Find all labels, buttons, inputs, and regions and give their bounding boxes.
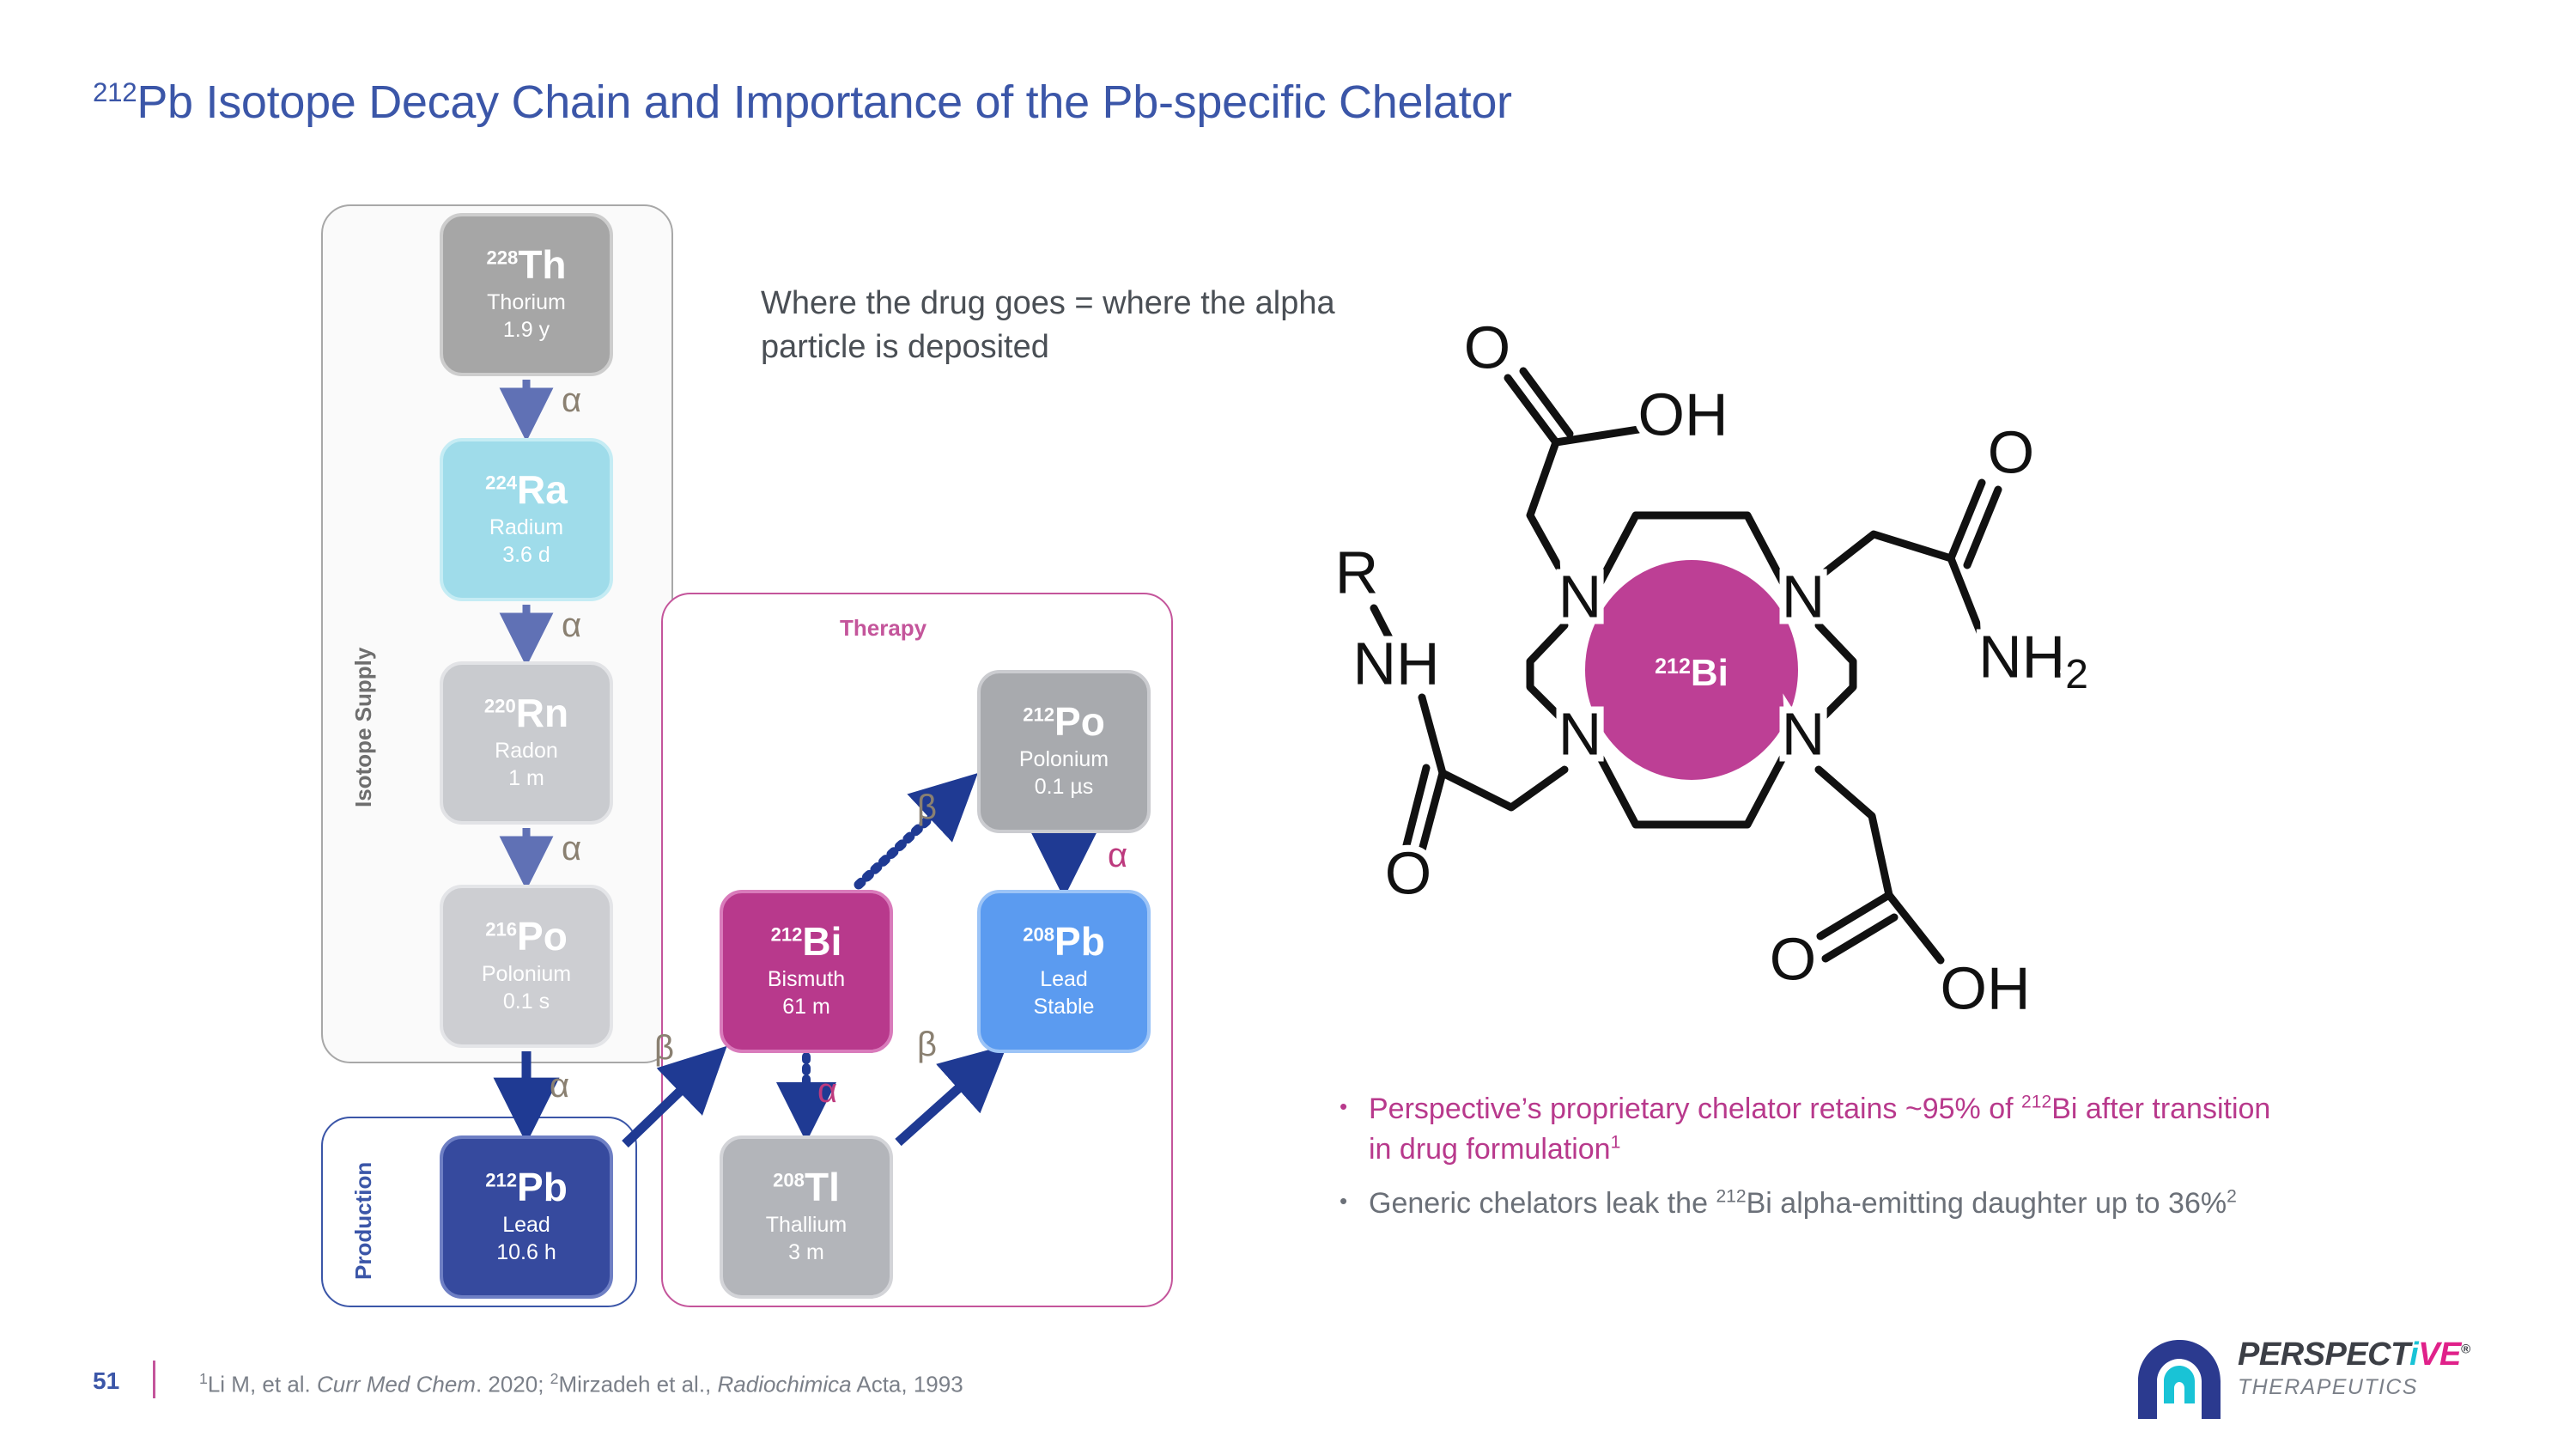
bullet-superscript: 212: [2021, 1093, 2051, 1112]
citation-journal-2: Radiochimica: [718, 1372, 852, 1397]
company-logo: PERSPECTiVE® THERAPEUTICS: [2135, 1333, 2538, 1428]
citation-segment: . 2020;: [476, 1372, 550, 1397]
isotope-name: Radon: [495, 737, 558, 765]
isotope-symbol: 208Tl: [773, 1167, 840, 1208]
isotope-halflife: 3.6 d: [502, 541, 550, 569]
logo-subtitle: THERAPEUTICS: [2238, 1377, 2470, 1398]
isotope-name: Polonium: [482, 960, 571, 989]
citation-ref-2: 2: [550, 1370, 559, 1387]
bullet-citation-ref: 1: [1611, 1133, 1621, 1153]
isotope-name: Bismuth: [768, 965, 845, 994]
isotope-symbol: 224Ra: [485, 470, 568, 510]
isotope-name: Thallium: [766, 1211, 847, 1239]
isotope-symbol: 216Po: [485, 916, 568, 957]
isotope-symbol: 212Pb: [485, 1167, 568, 1208]
isotope-box-po216[interactable]: 216Po Polonium 0.1 s: [440, 885, 613, 1048]
isotope-mass: 228: [486, 247, 518, 269]
isotope-symbol: 212Bi: [771, 922, 842, 962]
citation-segment: Mirzadeh et al.,: [559, 1372, 718, 1397]
isotope-element: Pb: [1054, 919, 1105, 964]
decay-label-beta-pb-bi: β: [654, 1031, 674, 1065]
isotope-box-tl208[interactable]: 208Tl Thallium 3 m: [720, 1135, 893, 1299]
isotope-halflife: 1.9 y: [503, 316, 550, 344]
isotope-mass: 208: [773, 1170, 805, 1191]
isotope-mass: 216: [485, 919, 517, 941]
isotope-element: Pb: [517, 1165, 568, 1209]
decay-label-beta-tl-pb: β: [917, 1027, 937, 1062]
chelator-structure-diagram: 212Bi N N N N O OH O NH2 R NH O O OH: [1340, 258, 2164, 1048]
decay-label-alpha-ra-rn: α: [562, 608, 581, 642]
atom-label-o-upper-right: O: [1988, 418, 2034, 485]
page-title: 212Pb Isotope Decay Chain and Importance…: [93, 76, 1512, 129]
atom-label-oh-upper: OH: [1638, 381, 1728, 447]
citation-segment: Li M, et al.: [208, 1372, 317, 1397]
logo-name-accent-i: i: [2409, 1336, 2418, 1373]
atom-label-n-lower-right: N: [1782, 700, 1826, 767]
bullet-superscript: 212: [1716, 1186, 1746, 1206]
isotope-element: Tl: [805, 1165, 840, 1209]
isotope-mass: 212: [771, 924, 803, 946]
isotope-halflife: 0.1 µs: [1035, 773, 1094, 801]
list-item: • Perspective’s proprietary chelator ret…: [1340, 1089, 2301, 1170]
isotope-mass: 212: [1023, 704, 1054, 726]
bullet-citation-ref: 2: [2227, 1186, 2237, 1206]
atom-label-nh-lower-left: NH: [1352, 630, 1439, 697]
isotope-element: Bi: [802, 919, 841, 964]
citation-journal-1: Curr Med Chem: [317, 1372, 476, 1397]
bullet-marker-icon: •: [1340, 1184, 1369, 1224]
isotope-halflife: 0.1 s: [503, 988, 550, 1016]
isotope-symbol: 212Po: [1023, 702, 1105, 742]
registered-trademark-icon: ®: [2461, 1342, 2470, 1356]
atom-label-n-upper-right: N: [1782, 563, 1826, 630]
citation-footnote: 1Li M, et al. Curr Med Chem. 2020; 2Mirz…: [199, 1370, 963, 1398]
isotope-box-ra224[interactable]: 224Ra Radium 3.6 d: [440, 438, 613, 601]
isotope-box-bi212[interactable]: 212Bi Bismuth 61 m: [720, 890, 893, 1053]
isotope-halflife: Stable: [1034, 993, 1095, 1021]
isotope-mass: 224: [485, 472, 517, 494]
isotope-name: Polonium: [1019, 746, 1109, 774]
bullet-text-2: Generic chelators leak the 212Bi alpha-e…: [1369, 1184, 2237, 1224]
logo-wordmark: PERSPECTiVE® THERAPEUTICS: [2238, 1338, 2470, 1398]
isotope-box-th228[interactable]: 228Th Thorium 1.9 y: [440, 213, 613, 376]
atom-label-nh2-upper-right: NH2: [1978, 623, 2088, 697]
isotope-symbol: 208Pb: [1023, 922, 1105, 962]
decay-label-alpha-po-pb208: α: [1108, 838, 1127, 873]
logo-name-part1: PERSPECT: [2238, 1336, 2409, 1373]
atom-label-o-lower-right: O: [1770, 925, 1816, 992]
isotope-box-pb212[interactable]: 212Pb Lead 10.6 h: [440, 1135, 613, 1299]
title-text: Pb Isotope Decay Chain and Importance of…: [137, 76, 1511, 128]
citation-segment: Acta, 1993: [852, 1372, 963, 1397]
decay-label-alpha-bi-tl: α: [817, 1074, 837, 1108]
atom-label-r-substituent: R: [1340, 539, 1378, 606]
atom-label-o-lower-left: O: [1385, 839, 1431, 906]
isotope-box-pb208[interactable]: 208Pb Lead Stable: [977, 890, 1151, 1053]
decay-label-beta-bi-po: β: [917, 790, 937, 825]
isotope-mass: 208: [1023, 924, 1054, 946]
isotope-name: Radium: [489, 514, 563, 542]
isotope-element: Th: [518, 242, 566, 287]
bullet-list: • Perspective’s proprietary chelator ret…: [1340, 1089, 2301, 1238]
isotope-mass: 212: [485, 1170, 517, 1191]
panel-label-production: Production: [350, 1162, 377, 1280]
isotope-halflife: 10.6 h: [496, 1239, 556, 1267]
isotope-box-rn220[interactable]: 220Rn Radon 1 m: [440, 661, 613, 825]
decay-label-alpha-th-ra: α: [562, 383, 581, 417]
panel-label-therapy: Therapy: [840, 615, 927, 642]
bullet-segment: Generic chelators leak the: [1369, 1187, 1716, 1220]
title-superscript: 212: [93, 77, 137, 107]
isotope-box-po212[interactable]: 212Po Polonium 0.1 µs: [977, 670, 1151, 833]
isotope-element: Ra: [517, 467, 568, 512]
isotope-halflife: 1 m: [508, 764, 544, 793]
isotope-element: Rn: [516, 691, 568, 735]
bullet-text-1: Perspective’s proprietary chelator retai…: [1369, 1089, 2301, 1170]
isotope-halflife: 3 m: [788, 1239, 824, 1267]
panel-label-isotope-supply: Isotope Supply: [350, 648, 377, 807]
atom-label-oh-lower-right: OH: [1941, 954, 2031, 1021]
page-number: 51: [93, 1367, 119, 1395]
isotope-element: Po: [1054, 699, 1105, 744]
isotope-name: Lead: [1040, 965, 1088, 994]
isotope-name: Thorium: [487, 289, 566, 317]
citation-ref-1: 1: [199, 1370, 208, 1387]
isotope-symbol: 220Rn: [484, 693, 568, 734]
isotope-element: Po: [517, 914, 568, 959]
logo-company-name: PERSPECTiVE®: [2238, 1338, 2470, 1371]
isotope-halflife: 61 m: [782, 993, 830, 1021]
isotope-mass: 220: [484, 696, 516, 717]
perspective-logo-mark-icon: [2135, 1336, 2224, 1422]
logo-name-ve: VE: [2418, 1336, 2461, 1373]
bullet-marker-icon: •: [1340, 1089, 1369, 1170]
isotope-symbol: 228Th: [486, 245, 566, 285]
atom-label-n-lower-left: N: [1558, 700, 1602, 767]
footer-divider: [153, 1361, 155, 1398]
bullet-segment: Perspective’s proprietary chelator retai…: [1369, 1093, 2021, 1125]
isotope-name: Lead: [502, 1211, 550, 1239]
atom-label-o-upper-left: O: [1464, 314, 1510, 381]
decay-label-alpha-rn-po: α: [562, 831, 581, 866]
atom-label-n-upper-left: N: [1558, 563, 1602, 630]
annotation-text: Where the drug goes = where the alpha pa…: [761, 282, 1413, 370]
slide-canvas: 212Pb Isotope Decay Chain and Importance…: [0, 0, 2576, 1449]
list-item: • Generic chelators leak the 212Bi alpha…: [1340, 1184, 2301, 1224]
decay-label-alpha-po-pb: α: [550, 1068, 569, 1103]
bullet-segment: Bi alpha-emitting daughter up to 36%: [1747, 1187, 2227, 1220]
